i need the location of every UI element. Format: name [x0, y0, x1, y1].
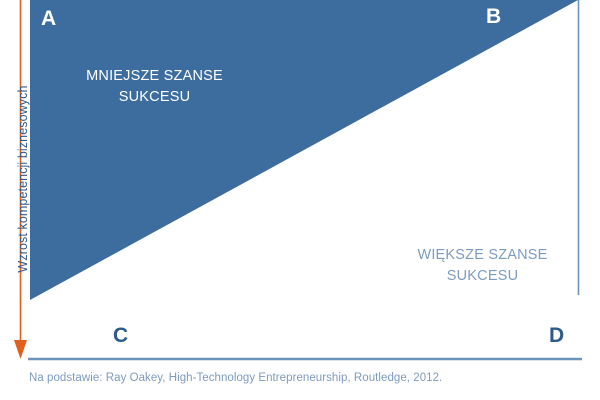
diagram-canvas: Wzrost kompetencji biznesowych A B C D M… — [0, 0, 600, 400]
y-axis-arrow-head-icon — [14, 340, 27, 359]
quadrant-label-c: C — [113, 325, 128, 346]
quadrant-label-b: B — [486, 6, 501, 27]
diagram-graphics — [0, 0, 600, 400]
region-label-less-success: MNIEJSZE SZANSE SUKCESU — [52, 66, 257, 108]
region-label-more-success: WIĘKSZE SZANSE SUKCESU — [390, 245, 575, 287]
quadrant-label-d: D — [549, 325, 564, 346]
quadrant-label-a: A — [41, 8, 56, 29]
source-caption: Na podstawie: Ray Oakey, High-Technology… — [29, 372, 442, 384]
y-axis-label: Wzrost kompetencji biznesowych — [16, 34, 30, 324]
